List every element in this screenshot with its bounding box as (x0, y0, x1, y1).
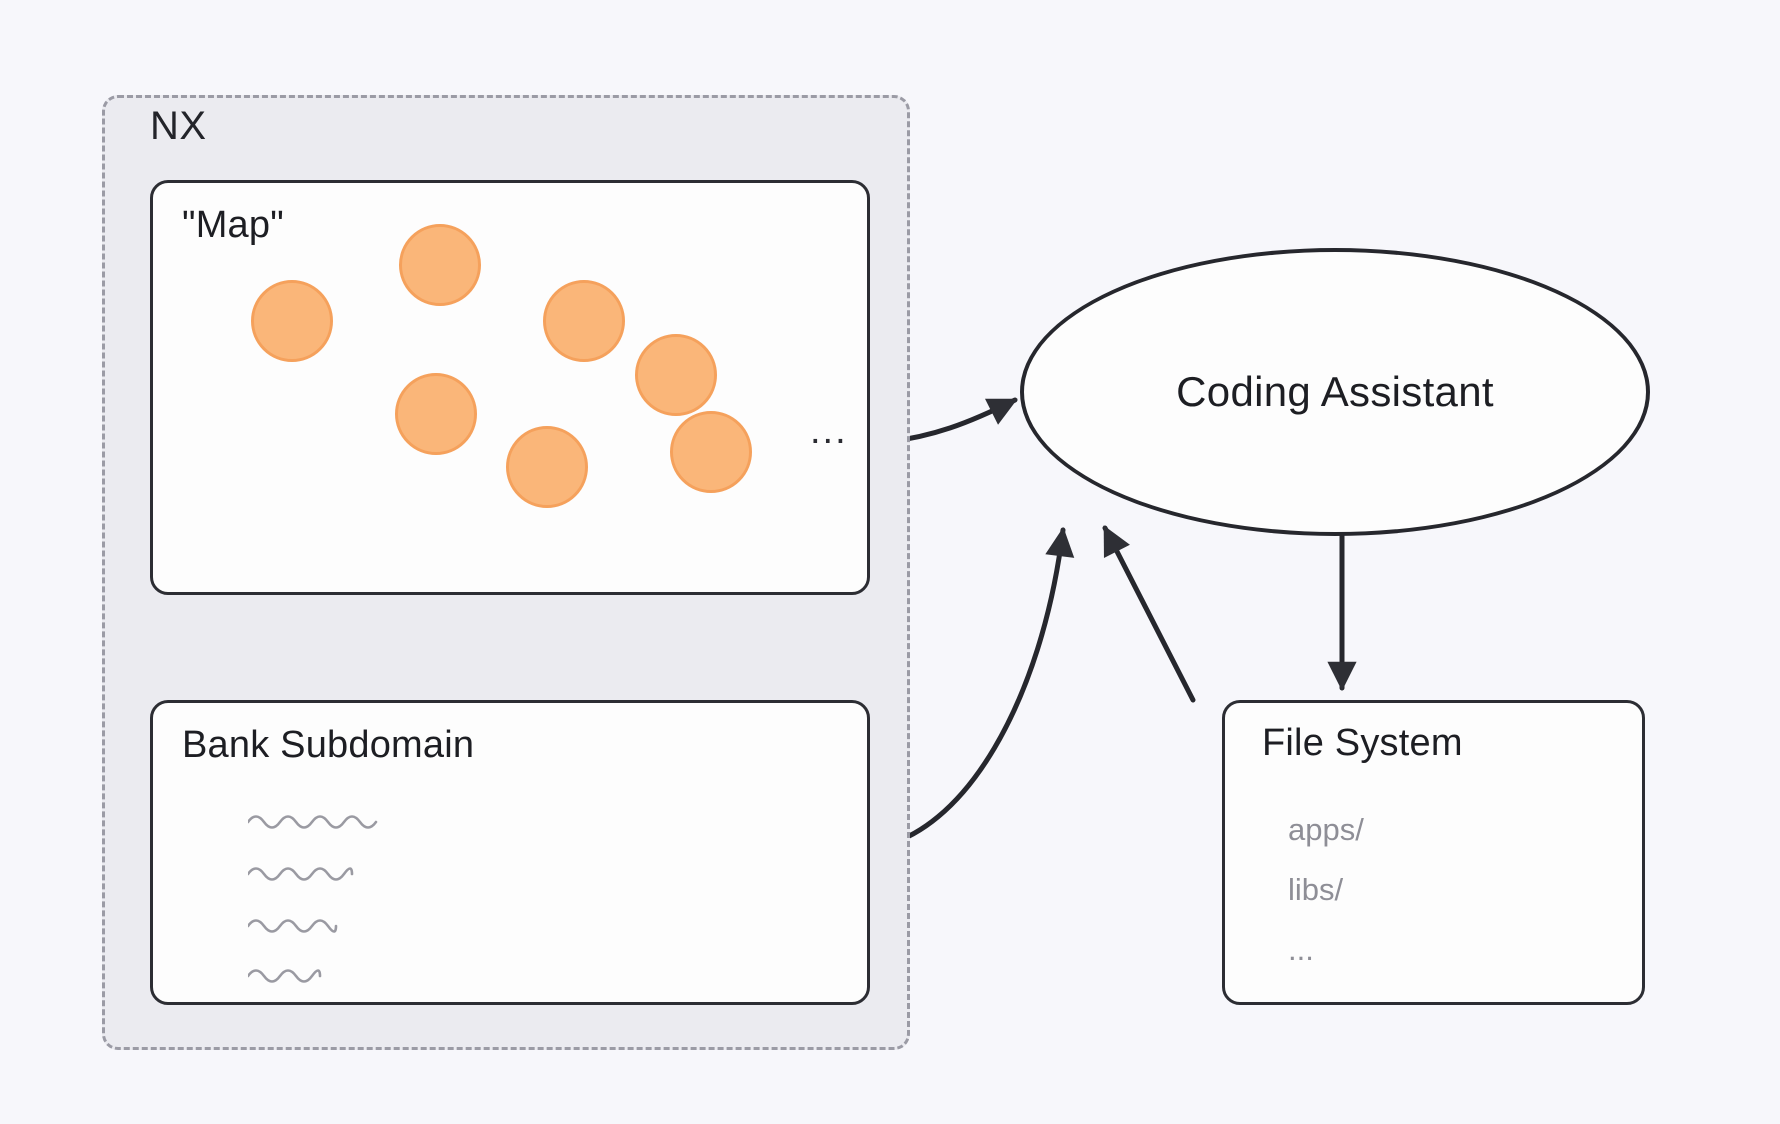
graph-ellipsis-label: ... (810, 412, 848, 450)
connector-filesystem-to-assistant (1105, 528, 1193, 700)
bank-squiggle-lines (248, 812, 408, 1022)
graph-node[interactable] (543, 280, 625, 362)
graph-node[interactable] (251, 280, 333, 362)
graph-node[interactable] (395, 373, 477, 455)
bank-subdomain-title: Bank Subdomain (182, 724, 474, 767)
file-system-entry: apps/ (1288, 812, 1364, 848)
graph-node[interactable] (635, 334, 717, 416)
squiggle-line (248, 971, 320, 982)
file-system-entry: ... (1288, 932, 1314, 968)
coding-assistant-label: Coding Assistant (1020, 248, 1650, 536)
diagram-canvas: NX "Map" ... Bank Subdomain Coding Assis… (0, 0, 1780, 1124)
file-system-title: File System (1262, 722, 1463, 765)
graph-node[interactable] (399, 224, 481, 306)
squiggle-line (248, 921, 336, 932)
graph-node[interactable] (506, 426, 588, 508)
squiggle-line (248, 869, 352, 880)
graph-node[interactable] (670, 411, 752, 493)
nx-group-label: NX (150, 104, 207, 149)
squiggle-line (248, 817, 376, 828)
file-system-entry: libs/ (1288, 872, 1343, 908)
map-card-title: "Map" (182, 204, 284, 247)
